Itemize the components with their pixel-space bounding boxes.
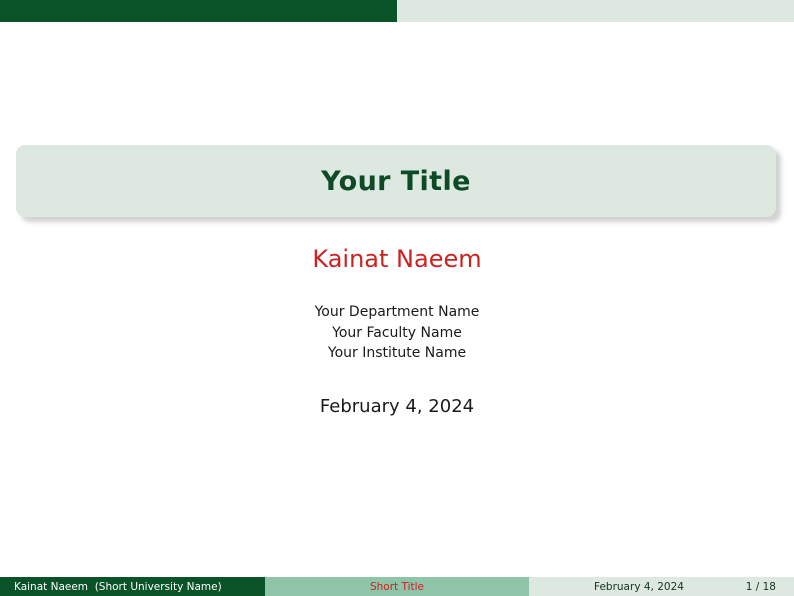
footer-date: February 4, 2024 [594,581,684,593]
institute-line-faculty: Your Faculty Name [0,323,794,344]
institute-line-department: Your Department Name [0,302,794,323]
title-block: Your Title [16,145,776,217]
slide-body: Your Title Kainat Naeem Your Department … [0,22,794,577]
footer-short-title: Short Title [265,577,529,596]
footer-author: Kainat Naeem (Short University Name) [0,577,265,596]
footer-page-number: 1 / 18 [746,581,776,593]
slide-headbar [0,0,794,22]
headbar-left-section [0,0,397,22]
title-meta-block: Kainat Naeem Your Department Name Your F… [0,247,794,417]
footer-right-section: February 4, 2024 1 / 18 [529,577,794,596]
presentation-date: February 4, 2024 [0,396,794,417]
author-name: Kainat Naeem [0,247,794,271]
institute-line-institute: Your Institute Name [0,343,794,364]
institute-block: Your Department Name Your Faculty Name Y… [0,302,794,364]
page-title: Your Title [321,166,471,197]
slide-footer: Kainat Naeem (Short University Name) Sho… [0,577,794,596]
headbar-right-section [397,0,794,22]
